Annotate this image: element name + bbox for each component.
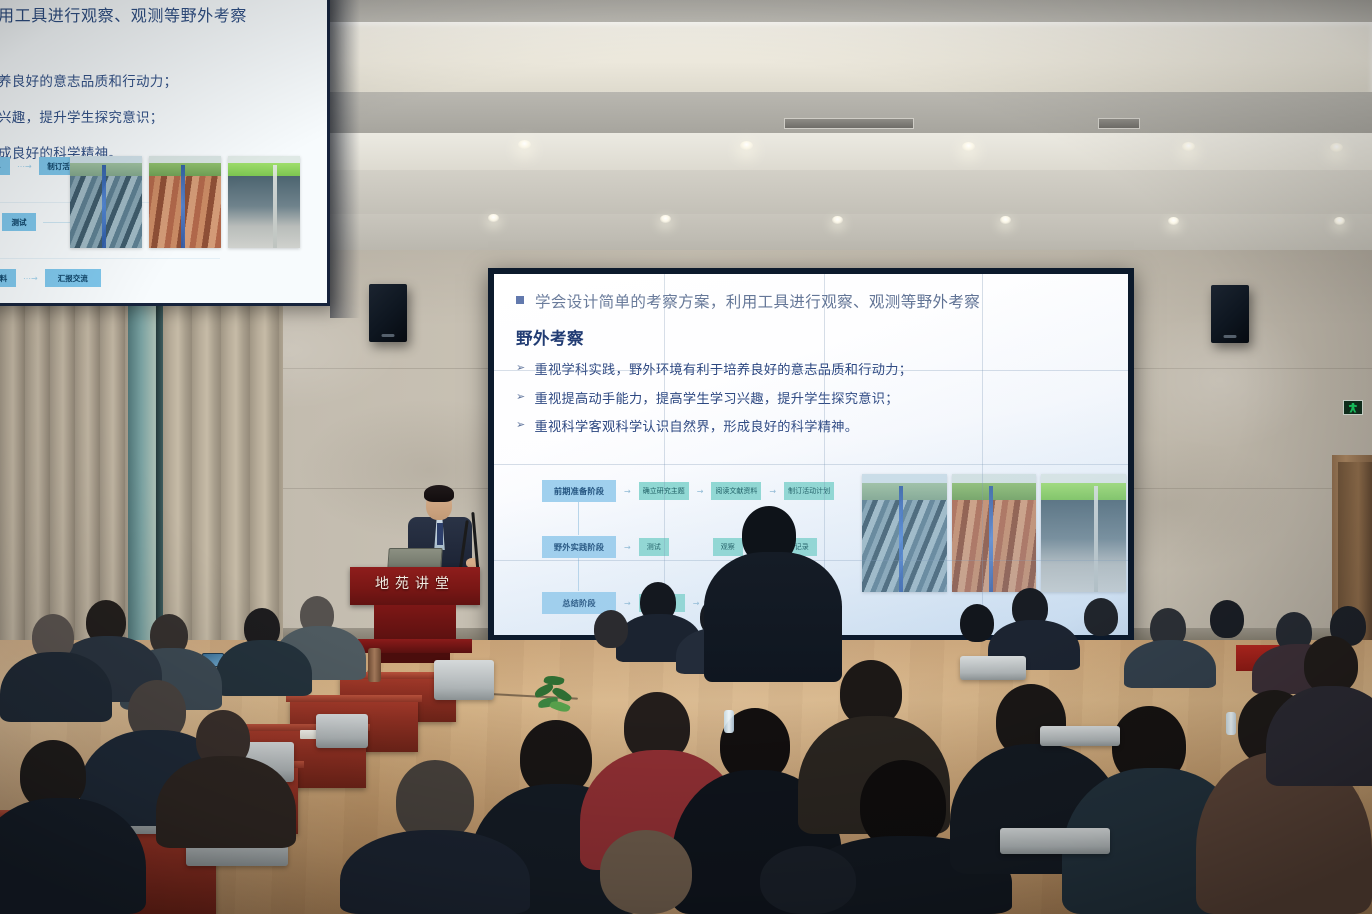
flow-connector-icon: → [624,543,631,552]
air-vent-short [1098,118,1140,129]
arrow-bullet-icon: ➢ [516,361,526,374]
audience-head [1210,600,1244,638]
ceiling-step-two [330,92,1372,137]
wall-speaker-right-icon [1211,285,1249,343]
wall-speaker-left-icon [369,284,407,342]
projection-list-item: 养良好的意志品质和行动力； [0,70,311,90]
chair-back [960,656,1026,680]
potted-plant [534,672,574,716]
flow-dash-icon: ⋯→ [23,274,38,283]
projection-flow-row: 理资料 ⋯→ 汇报交流 [0,268,226,288]
projection-heading: 用工具进行观察、观测等野外考察 [0,2,311,26]
chair-back [434,660,494,700]
soil-profile-photo [862,474,947,592]
ceiling-downlight [1330,143,1343,152]
slide-subheading: 野外考察 [516,325,1106,349]
ceiling-downlight [1000,216,1011,224]
ceiling-panel-three [330,133,1372,173]
videowall-seam [664,274,665,635]
list-item-text: 重视学科实践，野外环境有利于培养良好的意志品质和行动力； [535,359,913,378]
projection-flow-box: 测试 [2,213,36,231]
projection-list-item: 兴趣，提升学生探究意识； [0,106,311,126]
ceiling-downlight [832,216,843,224]
ceiling-downlight [660,215,671,223]
water-bottle [1226,712,1236,735]
flow-connector-icon: → [624,599,631,608]
arrow-bullet-icon: ➢ [516,390,526,403]
list-item: ➢ 重视科学客观科学认识自然界，形成良好的科学精神。 [516,416,1106,435]
standing-person-body [704,552,842,682]
projection-photo-strip [70,156,300,248]
ceiling-step-four [330,170,1372,218]
flow-connector-icon: → [624,487,631,496]
emergency-exit-sign [1343,400,1363,415]
ceiling-downlight [518,140,531,149]
list-item-text: 重视科学客观科学认识自然界，形成良好的科学精神。 [535,416,859,435]
soil-profile-photo [70,156,142,248]
audience-head [760,846,856,914]
window-curtain-right [163,300,283,640]
soil-profile-photo [952,474,1037,592]
square-bullet-icon [516,296,524,304]
audience-shoulders [340,830,530,914]
thermos-flask [368,648,381,682]
flowchart-row: 野外实践阶段 → 测试 观察 记录 [542,535,872,559]
ceiling-downlight [1182,142,1195,151]
flowchart-step: 制订活动计划 [784,482,834,500]
flowchart-row: 前期准备阶段 → 确立研究主题 → 阅读文献资料 → 制订活动计划 [542,479,872,503]
ceiling-downlight [962,142,975,151]
ceiling-downlight [740,141,753,150]
running-person-icon [1348,403,1359,413]
air-vent-long [784,118,914,129]
chair-back [1040,726,1120,746]
projection-flow-box: 资料 [0,157,10,175]
list-item: ➢ 重视提高动手能力，提高学生学习兴趣，提升学生探究意识； [516,388,1106,407]
audience-desk-top [286,695,422,702]
flow-connector-icon: → [769,487,776,496]
lectern-column [374,605,456,639]
audience-shoulders [0,652,112,722]
audience-head [1084,598,1118,636]
ceiling-cove-light [330,22,1372,94]
audience-shoulders [156,756,296,848]
projection-flow-box: 汇报交流 [45,269,101,287]
audience-shoulders [216,640,312,696]
list-item-text: 重视提高动手能力，提高学生学习兴趣，提升学生探究意识； [535,388,899,407]
soil-profile-photo [149,156,221,248]
flowchart-stage: 野外实践阶段 [542,536,616,558]
projection-content: 用工具进行观察、观测等野外考察 养良好的意志品质和行动力； 兴趣，提升学生探究意… [0,0,327,303]
arrow-bullet-icon: ➢ [516,418,526,431]
projection-flow-box: 理资料 [0,269,16,287]
presenter-tie [437,523,443,545]
audience-head [600,830,692,914]
videowall-seam [494,464,1128,465]
flow-dash-icon: ⋯→ [17,162,32,171]
soil-profile-photo [1041,474,1126,592]
lecture-hall-photo: 学会设计简单的考察方案，利用工具进行观察、观测等野外考察 野外考察 ➢ 重视学科… [0,0,1372,914]
flowchart-step: 观察 [713,538,743,556]
slide-heading-row: 学会设计简单的考察方案，利用工具进行观察、观测等野外考察 [516,290,1106,312]
ceiling-downlight [488,214,499,222]
videowall-seam [982,274,983,635]
audience-head [594,610,628,648]
audience-head [960,604,994,642]
slide-heading: 学会设计简单的考察方案，利用工具进行观察、观测等野外考察 [535,290,980,312]
chair-back [1000,828,1110,854]
ceiling-downlight [1168,217,1179,225]
water-bottle [724,710,734,733]
venue-sign-text: 地苑讲堂 [350,573,480,593]
list-item: ➢ 重视学科实践，野外环境有利于培养良好的意志品质和行动力； [516,359,1106,378]
flowchart-step: 阅读文献资料 [711,482,761,500]
slide-photo-strip [862,474,1126,592]
videowall-seam [494,370,1128,371]
flow-connector-icon: → [693,599,700,608]
audience-shoulders [1124,640,1216,688]
flow-connector-icon: → [697,487,704,496]
flowchart-stage: 前期准备阶段 [542,480,616,502]
projection-edge-shadow [330,0,360,318]
ceiling-downlight [1334,217,1345,225]
presenter-hair [424,485,454,502]
soil-profile-photo [228,156,300,248]
chair-back [316,714,368,748]
secondary-projection-screen[interactable]: 用工具进行观察、观测等野外考察 养良好的意志品质和行动力； 兴趣，提升学生探究意… [0,0,330,306]
